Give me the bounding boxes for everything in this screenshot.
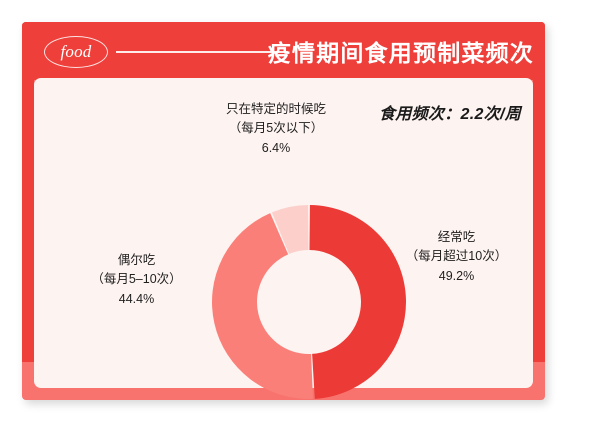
- callout-often-label: 经常吃: [438, 230, 476, 244]
- food-logo: food: [44, 36, 108, 68]
- callout-occasional-sublabel: （每月5次以下）: [229, 121, 323, 135]
- infographic-poster: food 疫情期间食用预制菜频次 食用频次：2.2次/周 只在特定的时候吃 （每…: [22, 22, 545, 400]
- callout-sometimes-value: 44.4%: [54, 290, 219, 309]
- callout-occasional: 只在特定的时候吃 （每月5次以下） 6.4%: [196, 100, 356, 158]
- callout-sometimes: 偶尔吃 （每月5–10次） 44.4%: [54, 251, 219, 309]
- title-divider-rule: [116, 51, 288, 53]
- food-logo-text: food: [60, 43, 91, 60]
- callout-often-sublabel: （每月超过10次）: [406, 249, 507, 263]
- page-title: 疫情期间食用预制菜频次: [298, 32, 534, 70]
- donut-slice-1: [309, 205, 406, 399]
- donut-chart: [209, 202, 409, 400]
- donut-slice-group: [212, 205, 406, 399]
- donut-chart-svg: [209, 202, 409, 400]
- callout-sometimes-label: 偶尔吃: [118, 253, 156, 267]
- frequency-stat: 食用频次：2.2次/周: [379, 100, 521, 124]
- callout-sometimes-sublabel: （每月5–10次）: [91, 272, 181, 286]
- poster-header-band: food 疫情期间食用预制菜频次: [22, 22, 545, 80]
- callout-occasional-value: 6.4%: [196, 139, 356, 158]
- chart-card: 食用频次：2.2次/周 只在特定的时候吃 （每月5次以下） 6.4% 偶尔吃 （…: [34, 78, 533, 388]
- callout-occasional-label: 只在特定的时候吃: [226, 102, 326, 116]
